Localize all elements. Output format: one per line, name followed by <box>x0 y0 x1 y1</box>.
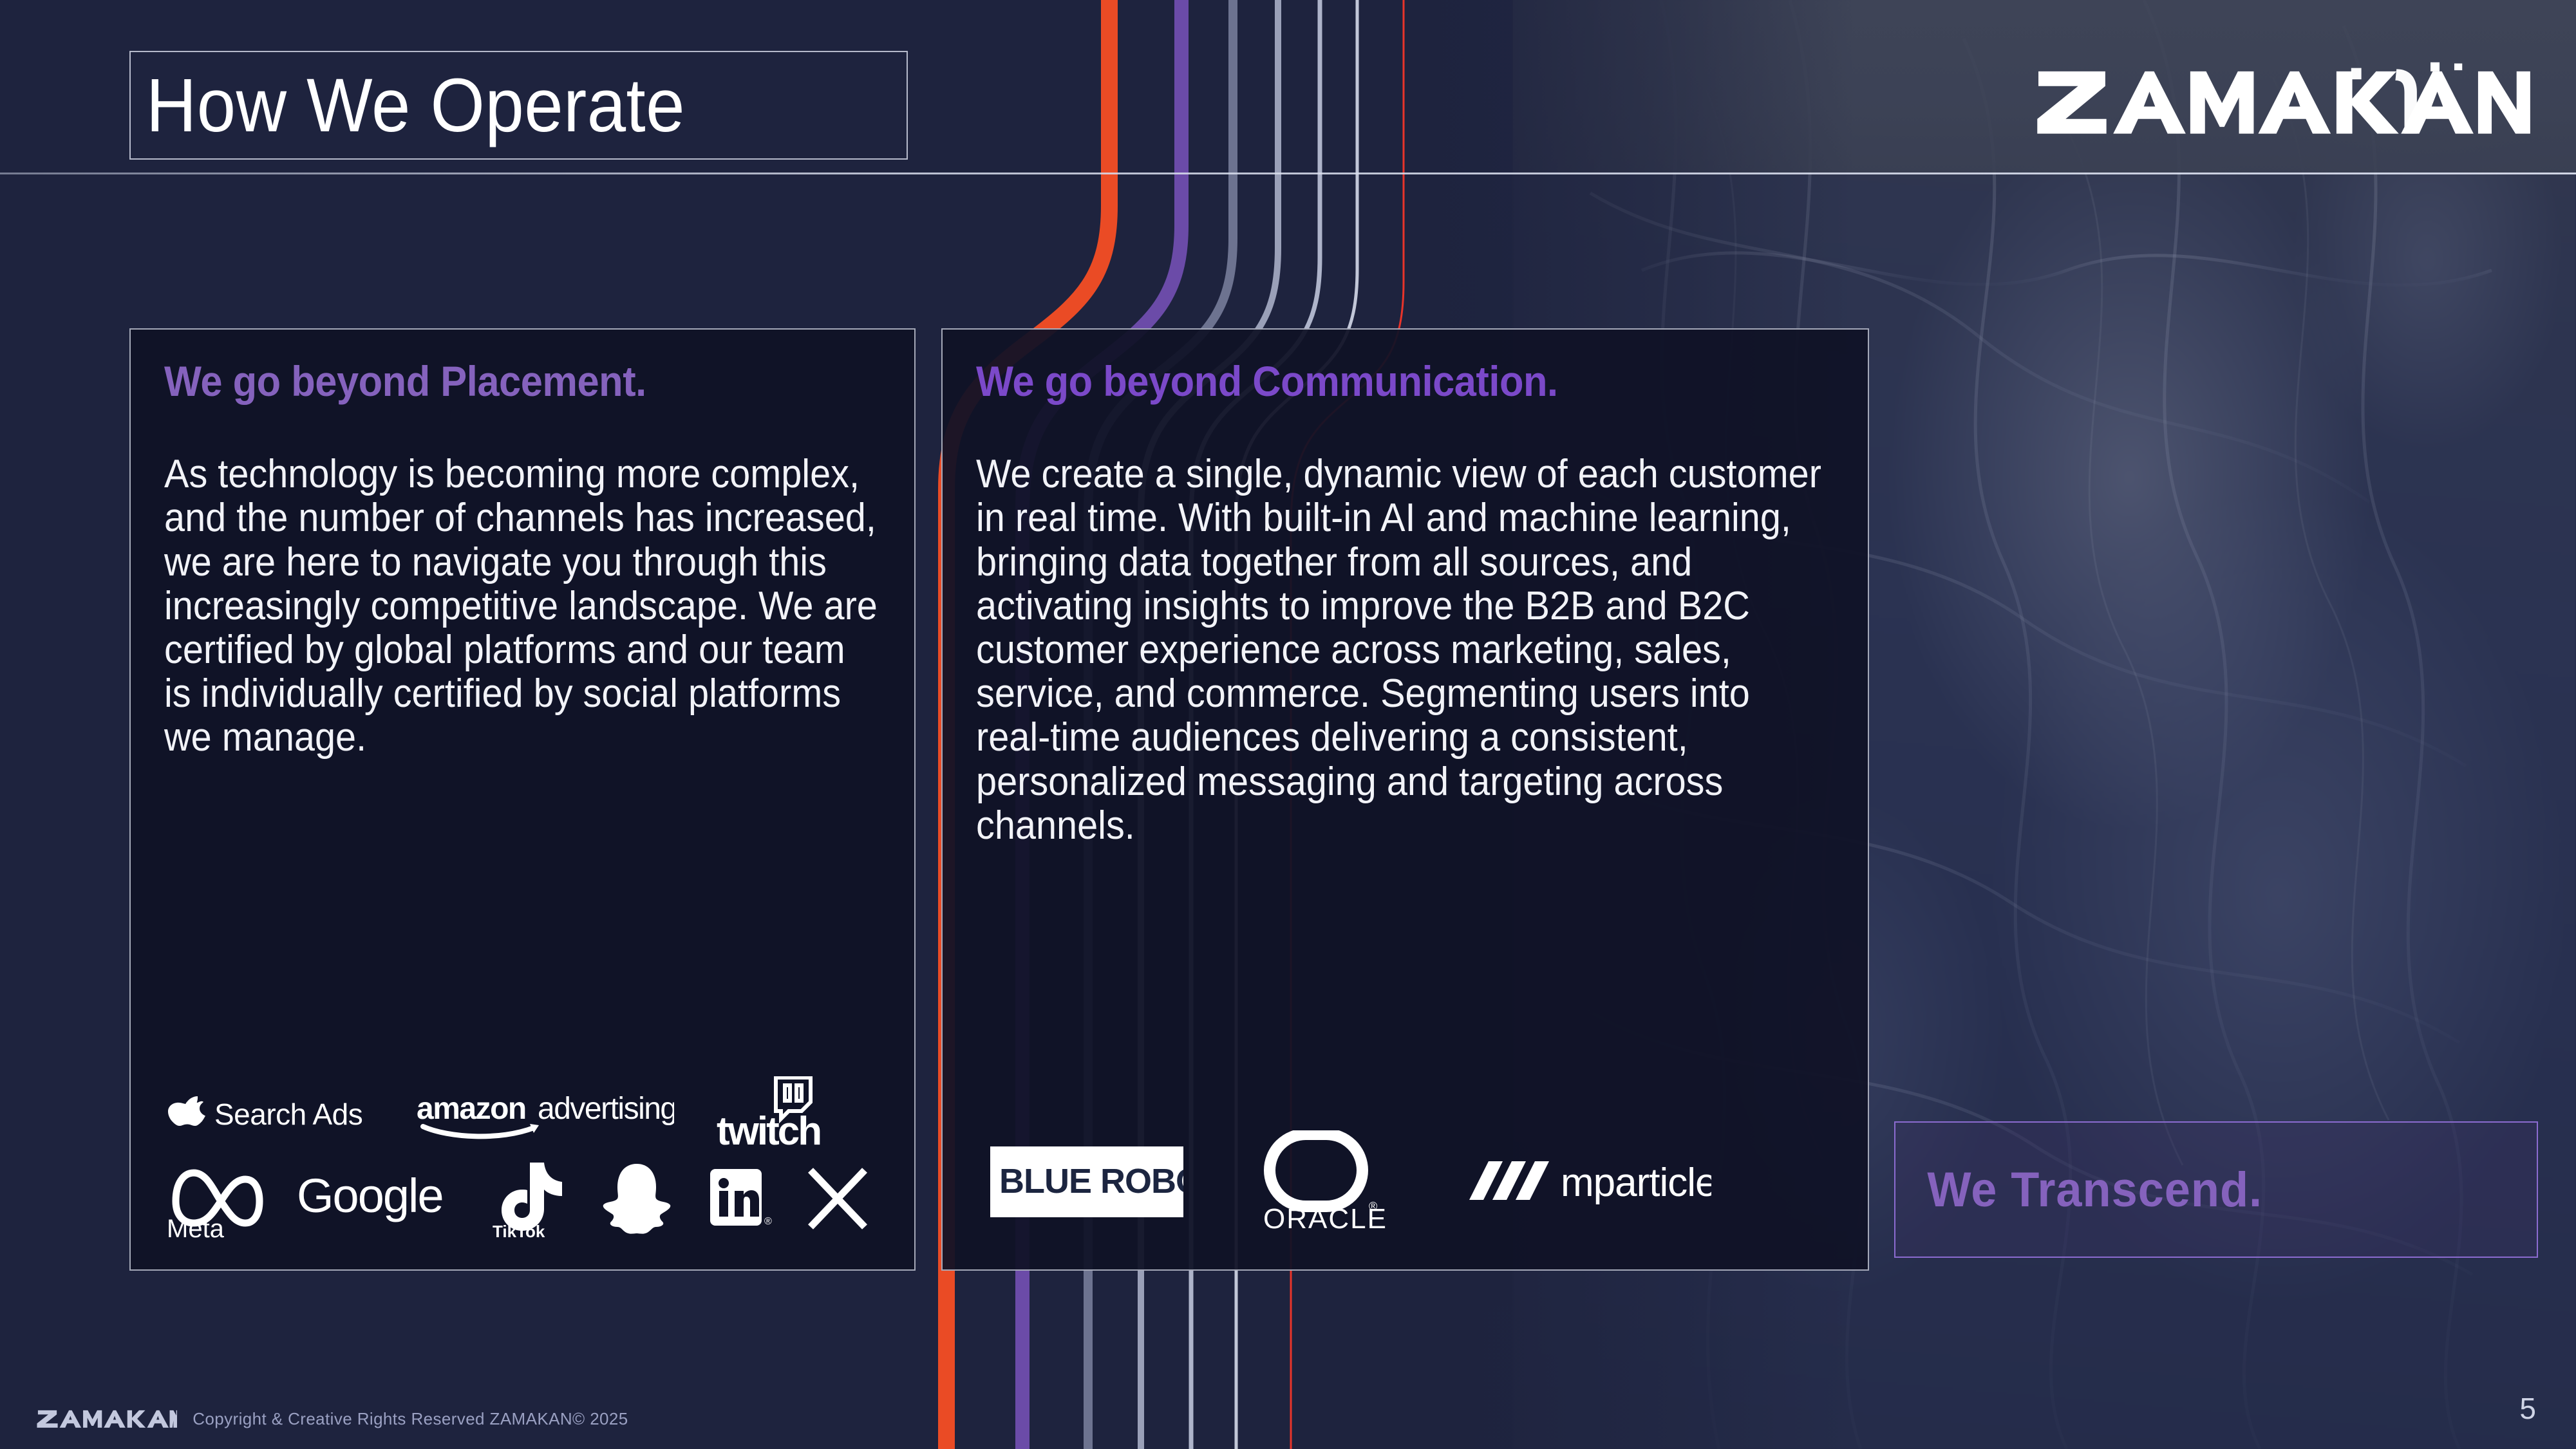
page-number: 5 <box>2519 1391 2536 1426</box>
blue-robot-logo: BLUE ROBOT <box>990 1146 1183 1217</box>
page-title: How We Operate <box>131 68 685 144</box>
transcend-callout-text: We Transcend. <box>1895 1162 2262 1218</box>
logo-row-partners-2: Meta Google TikTok <box>164 1157 887 1240</box>
slide: How We Operate <box>0 0 2576 1449</box>
svg-text:advertising: advertising <box>538 1092 674 1126</box>
header-divider <box>0 173 2576 174</box>
mparticle-logo: mparticle <box>1467 1151 1711 1213</box>
svg-text:BLUE ROBOT: BLUE ROBOT <box>999 1162 1183 1201</box>
panel-body-placement: As technology is becoming more complex, … <box>164 453 881 760</box>
platform-logo-strip: BLUE ROBOT ORACLE ® mparticle <box>990 1130 1711 1233</box>
svg-text:amazon: amazon <box>417 1092 526 1126</box>
page-title-box: How We Operate <box>129 51 908 160</box>
oracle-logo: ORACLE ® <box>1254 1130 1396 1233</box>
svg-text:®: ® <box>764 1216 772 1227</box>
footer: Copyright & Creative Rights Reserved ZAM… <box>36 1407 628 1431</box>
panel-body-communication: We create a single, dynamic view of each… <box>976 453 1834 848</box>
svg-text:Meta: Meta <box>167 1215 225 1239</box>
amazon-advertising-logo: amazon advertising <box>417 1088 674 1141</box>
apple-search-ads-logo: Search Ads <box>164 1091 377 1137</box>
footer-copyright: Copyright & Creative Rights Reserved ZAM… <box>193 1409 628 1429</box>
svg-text:mparticle: mparticle <box>1561 1161 1711 1205</box>
twitch-logo: twitch <box>714 1076 830 1152</box>
snapchat-logo <box>597 1160 677 1237</box>
svg-text:twitch: twitch <box>717 1109 820 1152</box>
panel-communication: We go beyond Communication. We create a … <box>941 328 1869 1271</box>
transcend-callout-box: We Transcend. <box>1894 1121 2538 1258</box>
panel-heading-placement: We go beyond Placement. <box>164 359 831 404</box>
svg-text:TikTok: TikTok <box>493 1222 545 1239</box>
svg-text:Search Ads: Search Ads <box>214 1098 362 1131</box>
svg-text:Google: Google <box>297 1170 443 1222</box>
logo-row-partners-1: Search Ads amazon advertising twitch <box>164 1076 887 1152</box>
svg-text:®: ® <box>1369 1200 1377 1213</box>
linkedin-logo: ® <box>706 1165 773 1232</box>
tiktok-logo: TikTok <box>487 1159 567 1239</box>
google-logo: Google <box>297 1170 458 1228</box>
zamakan-logo <box>2034 57 2532 142</box>
x-twitter-logo <box>803 1165 875 1232</box>
footer-zamakan-logo <box>36 1407 177 1431</box>
panel-placement: We go beyond Placement. As technology is… <box>129 328 916 1271</box>
panel-heading-communication: We go beyond Communication. <box>976 359 1774 404</box>
certification-logo-strip: Search Ads amazon advertising twitch <box>164 1076 887 1240</box>
meta-logo: Meta <box>164 1159 267 1239</box>
